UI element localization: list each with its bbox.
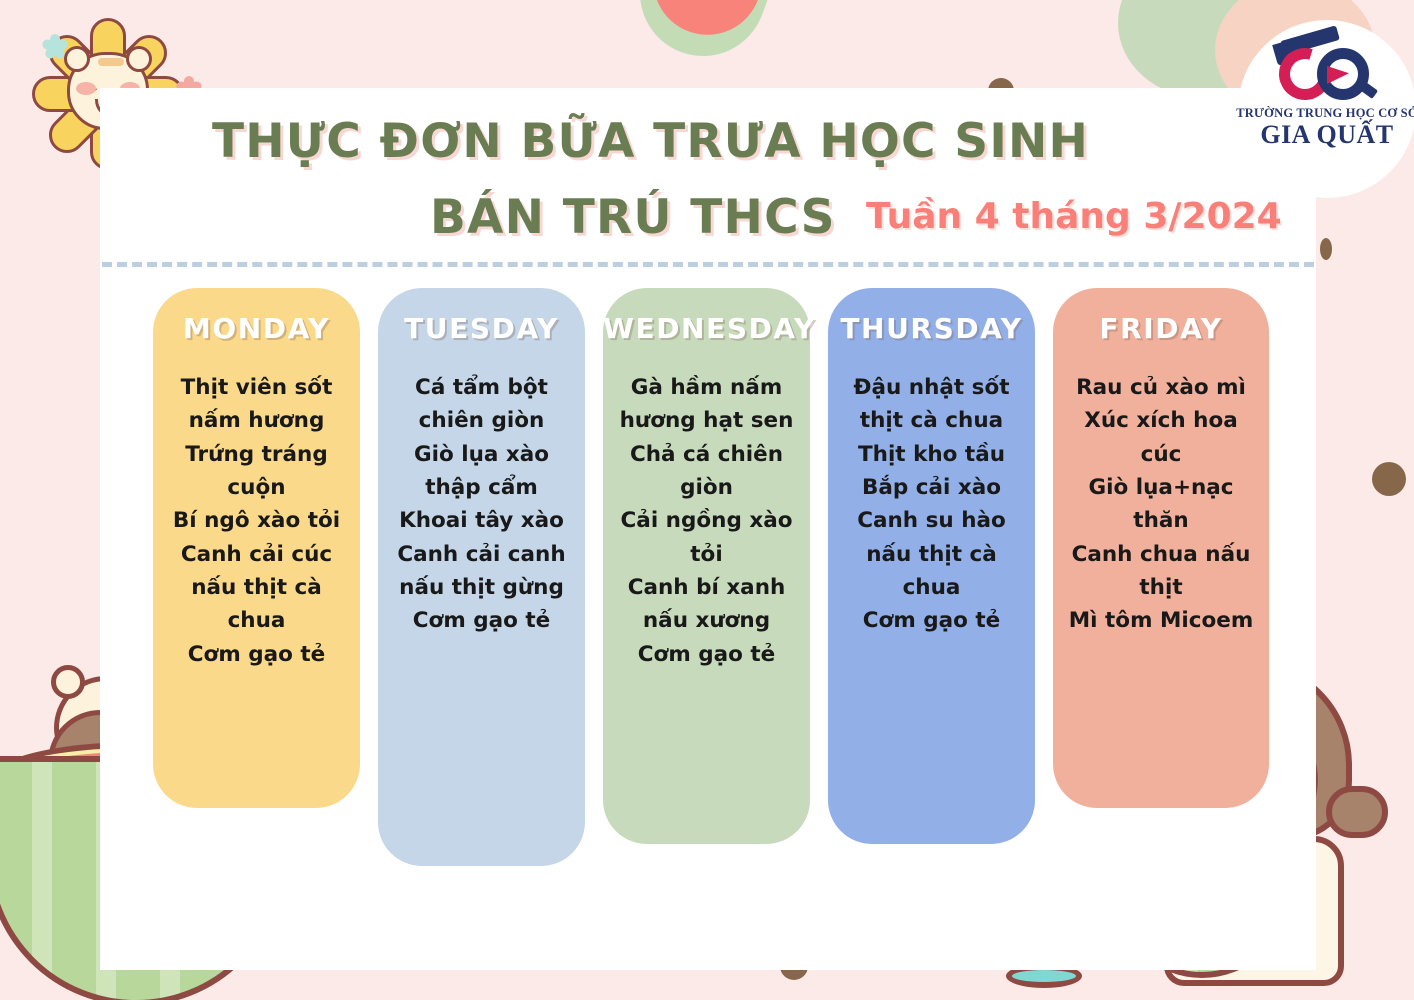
day-card-thursday: THURSDAY Đậu nhật sốt thịt cà chua Thịt …: [828, 288, 1035, 844]
menu-item: Cơm gạo tẻ: [836, 604, 1027, 637]
logo-monogram-icon: [1273, 42, 1381, 104]
menu-item: Thịt kho tầu: [836, 438, 1027, 471]
menu-item: Cá tẩm bột chiên giòn: [386, 371, 577, 438]
day-title-monday: MONDAY: [153, 312, 360, 345]
menu-item: Canh cải canh nấu thịt gừng: [386, 538, 577, 605]
day-cards-container: MONDAY Thịt viên sốt nấm hương Trứng trá…: [100, 288, 1316, 908]
menu-item: Cơm gạo tẻ: [611, 638, 802, 671]
day-title-thursday: THURSDAY: [828, 312, 1035, 345]
day-items-tuesday: Cá tẩm bột chiên giòn Giò lụa xào thập c…: [378, 371, 585, 638]
menu-item: Chả cá chiên giòn: [611, 438, 802, 505]
menu-item: Rau củ xào mì: [1061, 371, 1261, 404]
day-items-monday: Thịt viên sốt nấm hương Trứng tráng cuộn…: [153, 371, 360, 671]
school-logo: TRƯỜNG TRUNG HỌC CƠ SỞ GIA QUẤT: [1238, 20, 1414, 198]
day-items-friday: Rau củ xào mì Xúc xích hoa cúc Giò lụa+n…: [1053, 371, 1269, 638]
logo-subtitle: TRƯỜNG TRUNG HỌC CƠ SỞ: [1236, 106, 1414, 121]
day-title-friday: FRIDAY: [1053, 312, 1269, 345]
day-card-friday: FRIDAY Rau củ xào mì Xúc xích hoa cúc Gi…: [1053, 288, 1269, 808]
menu-item: Đậu nhật sốt thịt cà chua: [836, 371, 1027, 438]
mini-flower-icon: [42, 34, 68, 60]
poster-header: THỰC ĐƠN BỮA TRƯA HỌC SINH BÁN TRÚ THCS …: [100, 88, 1316, 263]
menu-item: Canh chua nấu thịt: [1061, 538, 1261, 605]
seed-dot-icon: [1320, 238, 1332, 260]
seed-dot-icon: [1372, 462, 1406, 496]
menu-item: Bí ngô xào tỏi: [161, 504, 352, 537]
day-title-wednesday: WEDNESDAY: [603, 312, 810, 345]
menu-item: Bắp cải xào: [836, 471, 1027, 504]
menu-item: Mì tôm Micoem: [1061, 604, 1261, 637]
logo-school-name: GIA QUẤT: [1260, 122, 1393, 148]
day-card-tuesday: TUESDAY Cá tẩm bột chiên giòn Giò lụa xà…: [378, 288, 585, 866]
menu-item: Cơm gạo tẻ: [386, 604, 577, 637]
day-card-monday: MONDAY Thịt viên sốt nấm hương Trứng trá…: [153, 288, 360, 808]
menu-item: Giò lụa xào thập cẩm: [386, 438, 577, 505]
day-card-wednesday: WEDNESDAY Gà hầm nấm hương hạt sen Chả c…: [603, 288, 810, 844]
menu-poster: THỰC ĐƠN BỮA TRƯA HỌC SINH BÁN TRÚ THCS …: [0, 0, 1414, 1000]
menu-item: Trứng tráng cuộn: [161, 438, 352, 505]
page-title-line2: BÁN TRÚ THCS: [430, 190, 836, 245]
watermelon-wedge-icon: [622, 0, 783, 74]
menu-item: Thịt viên sốt nấm hương: [161, 371, 352, 438]
menu-item: Canh su hào nấu thịt cà chua: [836, 504, 1027, 604]
day-items-thursday: Đậu nhật sốt thịt cà chua Thịt kho tầu B…: [828, 371, 1035, 638]
day-title-tuesday: TUESDAY: [378, 312, 585, 345]
menu-item: Cải ngồng xào tỏi: [611, 504, 802, 571]
menu-item: Canh bí xanh nấu xương: [611, 571, 802, 638]
menu-item: Canh cải cúc nấu thịt cà chua: [161, 538, 352, 638]
week-label: Tuần 4 tháng 3/2024: [866, 196, 1282, 237]
menu-panel: THỰC ĐƠN BỮA TRƯA HỌC SINH BÁN TRÚ THCS …: [100, 88, 1316, 970]
header-divider: [102, 262, 1314, 267]
day-items-wednesday: Gà hầm nấm hương hạt sen Chả cá chiên gi…: [603, 371, 810, 671]
menu-item: Khoai tây xào: [386, 504, 577, 537]
menu-item: Giò lụa+nạc thăn: [1061, 471, 1261, 538]
page-title-line1: THỰC ĐƠN BỮA TRƯA HỌC SINH: [212, 114, 1089, 169]
menu-item: Gà hầm nấm hương hạt sen: [611, 371, 802, 438]
menu-item: Xúc xích hoa cúc: [1061, 404, 1261, 471]
menu-item: Cơm gạo tẻ: [161, 638, 352, 671]
